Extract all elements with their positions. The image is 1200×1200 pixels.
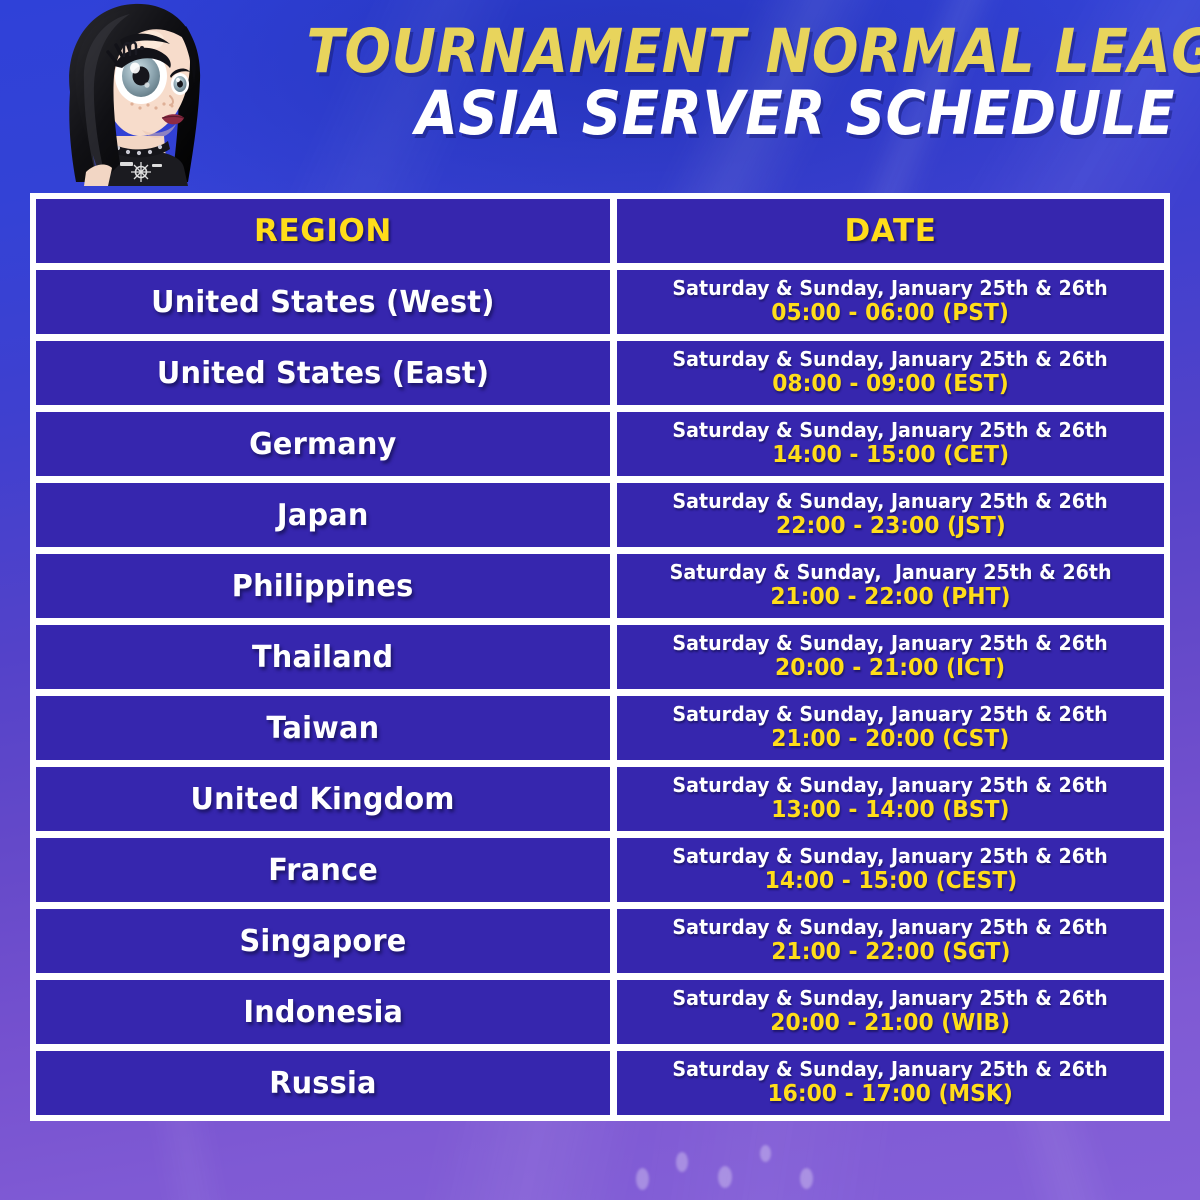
- table-row: JapanSaturday & Sunday, January 25th & 2…: [36, 483, 1164, 547]
- date-day-line: Saturday & Sunday, January 25th & 26th: [673, 703, 1108, 726]
- region-name: Singapore: [239, 924, 406, 959]
- date-time-line: 14:00 - 15:00 (CET): [772, 443, 1009, 469]
- region-name: Russia: [269, 1066, 376, 1101]
- date-day-line: Saturday & Sunday, January 25th & 26th: [673, 348, 1108, 371]
- cell-region: Thailand: [36, 625, 610, 689]
- region-name: Thailand: [252, 640, 393, 675]
- region-name: Germany: [249, 427, 396, 462]
- schedule-poster: TOURNAMENT NORMAL LEAGUE ASIA SERVER SCH…: [0, 0, 1200, 1200]
- table-body: United States (West)Saturday & Sunday, J…: [36, 270, 1164, 1115]
- region-name: Japan: [277, 498, 369, 533]
- date-day-line: Saturday & Sunday, January 25th & 26th: [673, 774, 1108, 797]
- cell-date: Saturday & Sunday, January 25th & 26th20…: [617, 625, 1164, 689]
- schedule-table: REGION DATE United States (West)Saturday…: [30, 193, 1170, 1121]
- date-day-line: Saturday & Sunday, January 25th & 26th: [673, 1058, 1108, 1081]
- cell-date: Saturday & Sunday, January 25th & 26th16…: [617, 1051, 1164, 1115]
- table-row: TaiwanSaturday & Sunday, January 25th & …: [36, 696, 1164, 760]
- date-day-line: Saturday & Sunday, January 25th & 26th: [673, 277, 1108, 300]
- cell-date: Saturday & Sunday, January 25th & 26th22…: [617, 483, 1164, 547]
- header-cell-date: DATE: [617, 199, 1164, 263]
- cell-region: Taiwan: [36, 696, 610, 760]
- date-time-line: 22:00 - 23:00 (JST): [776, 514, 1006, 540]
- date-day-line: Saturday & Sunday, January 25th & 26th: [673, 490, 1108, 513]
- cell-date: Saturday & Sunday, January 25th & 26th14…: [617, 412, 1164, 476]
- header-label-region: REGION: [254, 213, 392, 249]
- date-time-line: 20:00 - 21:00 (ICT): [775, 656, 1005, 682]
- cell-region: Russia: [36, 1051, 610, 1115]
- cell-region: United States (East): [36, 341, 610, 405]
- date-time-line: 08:00 - 09:00 (EST): [772, 372, 1009, 398]
- region-name: Indonesia: [243, 995, 403, 1030]
- table-row: SingaporeSaturday & Sunday, January 25th…: [36, 909, 1164, 973]
- date-time-line: 16:00 - 17:00 (MSK): [768, 1082, 1013, 1108]
- cell-region: Germany: [36, 412, 610, 476]
- cell-date: Saturday & Sunday, January 25th & 26th21…: [617, 554, 1164, 618]
- region-name: United States (East): [157, 356, 489, 391]
- date-day-line: Saturday & Sunday, January 25th & 26th: [673, 632, 1108, 655]
- date-time-line: 21:00 - 22:00 (SGT): [771, 940, 1010, 966]
- cell-date: Saturday & Sunday, January 25th & 26th13…: [617, 767, 1164, 831]
- date-time-line: 14:00 - 15:00 (CEST): [764, 869, 1017, 895]
- date-time-line: 21:00 - 20:00 (CST): [771, 727, 1009, 753]
- cell-region: France: [36, 838, 610, 902]
- bokeh-dot: [718, 1166, 732, 1188]
- table-row: IndonesiaSaturday & Sunday, January 25th…: [36, 980, 1164, 1044]
- table-row: GermanySaturday & Sunday, January 25th &…: [36, 412, 1164, 476]
- region-name: Philippines: [232, 569, 414, 604]
- date-day-line: Saturday & Sunday, January 25th & 26th: [670, 561, 1112, 584]
- title-line-secondary: ASIA SERVER SCHEDULE: [307, 84, 1176, 144]
- date-time-line: 20:00 - 21:00 (WIB): [771, 1011, 1011, 1037]
- date-time-line: 13:00 - 14:00 (BST): [771, 798, 1009, 824]
- goth-girl-mascot-icon: [46, 0, 222, 196]
- region-name: Taiwan: [267, 711, 380, 746]
- table-row: United KingdomSaturday & Sunday, January…: [36, 767, 1164, 831]
- cell-date: Saturday & Sunday, January 25th & 26th05…: [617, 270, 1164, 334]
- cell-region: United Kingdom: [36, 767, 610, 831]
- bokeh-dot: [760, 1145, 771, 1162]
- date-day-line: Saturday & Sunday, January 25th & 26th: [673, 845, 1108, 868]
- cell-region: Philippines: [36, 554, 610, 618]
- bokeh-dot: [636, 1168, 649, 1190]
- region-name: France: [268, 853, 378, 888]
- date-day-line: Saturday & Sunday, January 25th & 26th: [673, 419, 1108, 442]
- region-name: United States (West): [151, 285, 494, 320]
- table-row: United States (West)Saturday & Sunday, J…: [36, 270, 1164, 334]
- cell-date: Saturday & Sunday, January 25th & 26th14…: [617, 838, 1164, 902]
- bokeh-dot: [676, 1152, 688, 1172]
- title-line-primary: TOURNAMENT NORMAL LEAGUE: [307, 22, 1176, 82]
- date-time-line: 21:00 - 22:00 (PHT): [770, 585, 1010, 611]
- cell-region: United States (West): [36, 270, 610, 334]
- cell-date: Saturday & Sunday, January 25th & 26th20…: [617, 980, 1164, 1044]
- header-cell-region: REGION: [36, 199, 610, 263]
- cell-region: Singapore: [36, 909, 610, 973]
- poster-title: TOURNAMENT NORMAL LEAGUE ASIA SERVER SCH…: [210, 22, 1175, 145]
- table-row: United States (East)Saturday & Sunday, J…: [36, 341, 1164, 405]
- table-row: ThailandSaturday & Sunday, January 25th …: [36, 625, 1164, 689]
- cell-region: Indonesia: [36, 980, 610, 1044]
- cell-date: Saturday & Sunday, January 25th & 26th21…: [617, 909, 1164, 973]
- table-header-row: REGION DATE: [36, 199, 1164, 263]
- table-row: FranceSaturday & Sunday, January 25th & …: [36, 838, 1164, 902]
- table-row: PhilippinesSaturday & Sunday, January 25…: [36, 554, 1164, 618]
- header-label-date: DATE: [844, 213, 936, 249]
- table-row: RussiaSaturday & Sunday, January 25th & …: [36, 1051, 1164, 1115]
- date-day-line: Saturday & Sunday, January 25th & 26th: [673, 987, 1108, 1010]
- region-name: United Kingdom: [191, 782, 455, 817]
- date-day-line: Saturday & Sunday, January 25th & 26th: [673, 916, 1108, 939]
- cell-date: Saturday & Sunday, January 25th & 26th08…: [617, 341, 1164, 405]
- bokeh-dot: [800, 1168, 813, 1189]
- cell-date: Saturday & Sunday, January 25th & 26th21…: [617, 696, 1164, 760]
- cell-region: Japan: [36, 483, 610, 547]
- date-time-line: 05:00 - 06:00 (PST): [772, 301, 1010, 327]
